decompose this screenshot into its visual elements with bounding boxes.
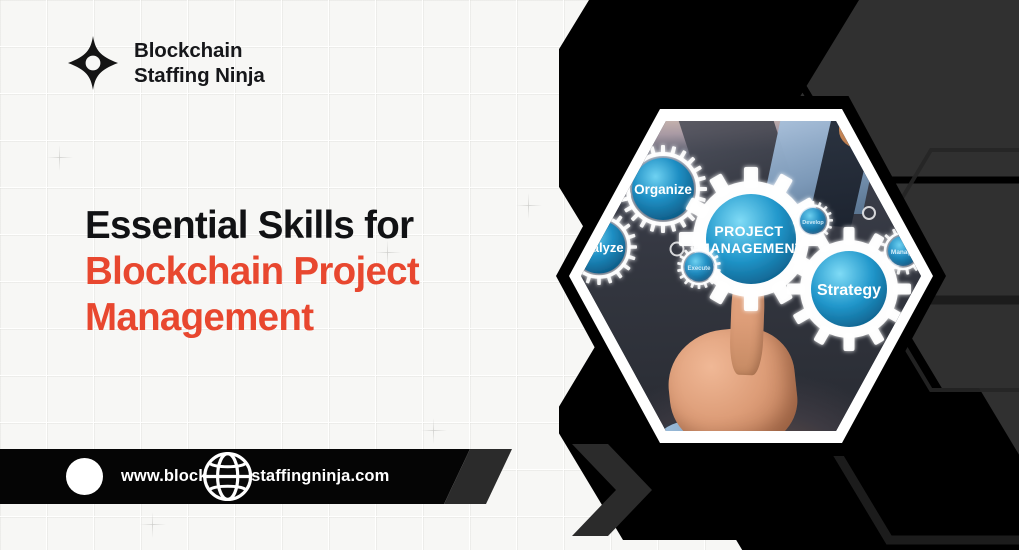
hero-hexagon-image: Organize [556,96,946,456]
blog-banner: Organize [0,0,1019,550]
ninja-star-icon [68,36,118,90]
gear-label-project: PROJECT [714,223,783,239]
headline: Essential Skills for Blockchain Project … [85,203,515,341]
headline-line-1: Essential Skills for [85,203,515,249]
brand-logo[interactable]: Blockchain Staffing Ninja [68,36,265,90]
gear-label-organize: Organize [634,182,692,197]
gear-label-strategy: Strategy [817,282,881,299]
gear-label-execute: Execute [687,266,711,272]
footer-url-band: www.blockchainstaffingninja.com [0,449,560,504]
headline-line-2: Blockchain Project [85,249,515,295]
chevron-accent [556,430,676,550]
brand-name: Blockchain Staffing Ninja [134,38,265,89]
headline-line-3: Management [85,295,515,341]
gear-label-management: MANAGEMENT [698,240,804,256]
globe-icon [66,458,103,495]
gear-label-develop: Develop [802,220,824,226]
